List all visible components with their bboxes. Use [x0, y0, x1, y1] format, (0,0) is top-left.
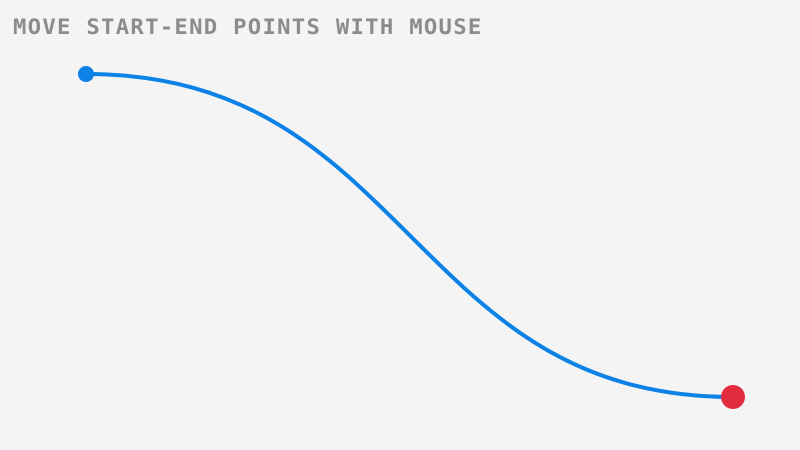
canvas-app: MOVE START-END POINTS WITH MOUSE	[0, 0, 800, 450]
bezier-stage[interactable]	[0, 0, 800, 450]
curve-start-handle[interactable]	[78, 66, 94, 82]
curve-canvas[interactable]	[0, 0, 800, 450]
curve-end-handle[interactable]	[721, 385, 745, 409]
bezier-curve-path	[86, 74, 733, 397]
